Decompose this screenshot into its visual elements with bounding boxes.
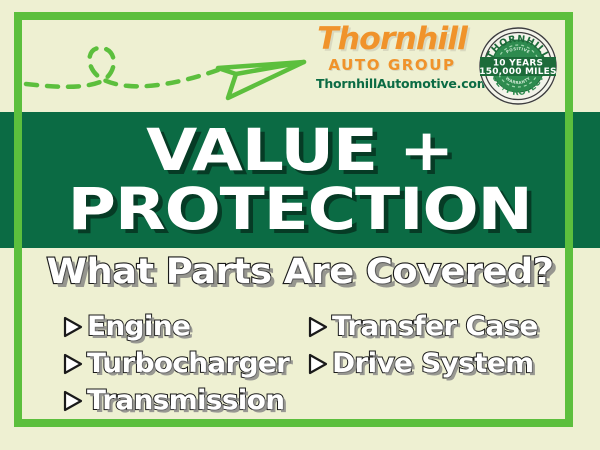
triangle-bullet-icon — [307, 315, 329, 339]
list-item: Transmission — [62, 382, 297, 419]
subhead-question: What Parts Are Covered? — [0, 252, 600, 292]
covered-parts-right-column: Transfer Case Drive System — [307, 308, 542, 419]
brand-website: ThornhillAutomotive.com — [316, 78, 468, 91]
list-item-label: Turbocharger — [87, 348, 289, 379]
brand-subtitle: AUTO GROUP — [316, 58, 468, 73]
covered-parts-left-column: Engine Turbocharger Transmission — [62, 308, 297, 419]
headline: VALUE + PROTECTION — [0, 112, 600, 248]
list-item: Drive System — [307, 345, 542, 382]
flight-path-decoration — [22, 22, 312, 112]
headline-line-1: VALUE + — [147, 123, 454, 178]
list-item-label: Engine — [87, 311, 190, 342]
dashed-loop-path-icon — [22, 22, 312, 112]
covered-parts-list: Engine Turbocharger Transmission Tra — [62, 308, 542, 419]
warranty-seal: THORNHILL VALUE+PROTECTION POSITIVE WARR… — [478, 26, 558, 106]
promo-poster: Thornhill AUTO GROUP ThornhillAutomotive… — [0, 0, 600, 450]
triangle-bullet-icon — [62, 315, 84, 339]
headline-line-2: PROTECTION — [68, 182, 532, 237]
list-item-label: Transfer Case — [332, 311, 538, 342]
brand-logo: Thornhill AUTO GROUP ThornhillAutomotive… — [316, 24, 468, 91]
list-item: Turbocharger — [62, 345, 297, 382]
list-item: Engine — [62, 308, 297, 345]
triangle-bullet-icon — [62, 352, 84, 376]
triangle-bullet-icon — [307, 352, 329, 376]
list-item: Transfer Case — [307, 308, 542, 345]
list-item-label: Transmission — [87, 385, 284, 416]
list-item-label: Drive System — [332, 348, 533, 379]
seal-term-miles: 150,000 MILES — [479, 67, 556, 77]
triangle-bullet-icon — [62, 389, 84, 413]
warranty-seal-icon: THORNHILL VALUE+PROTECTION POSITIVE WARR… — [478, 26, 558, 106]
paper-plane-arrow-icon — [218, 62, 304, 98]
brand-wordmark: Thornhill — [314, 24, 469, 55]
